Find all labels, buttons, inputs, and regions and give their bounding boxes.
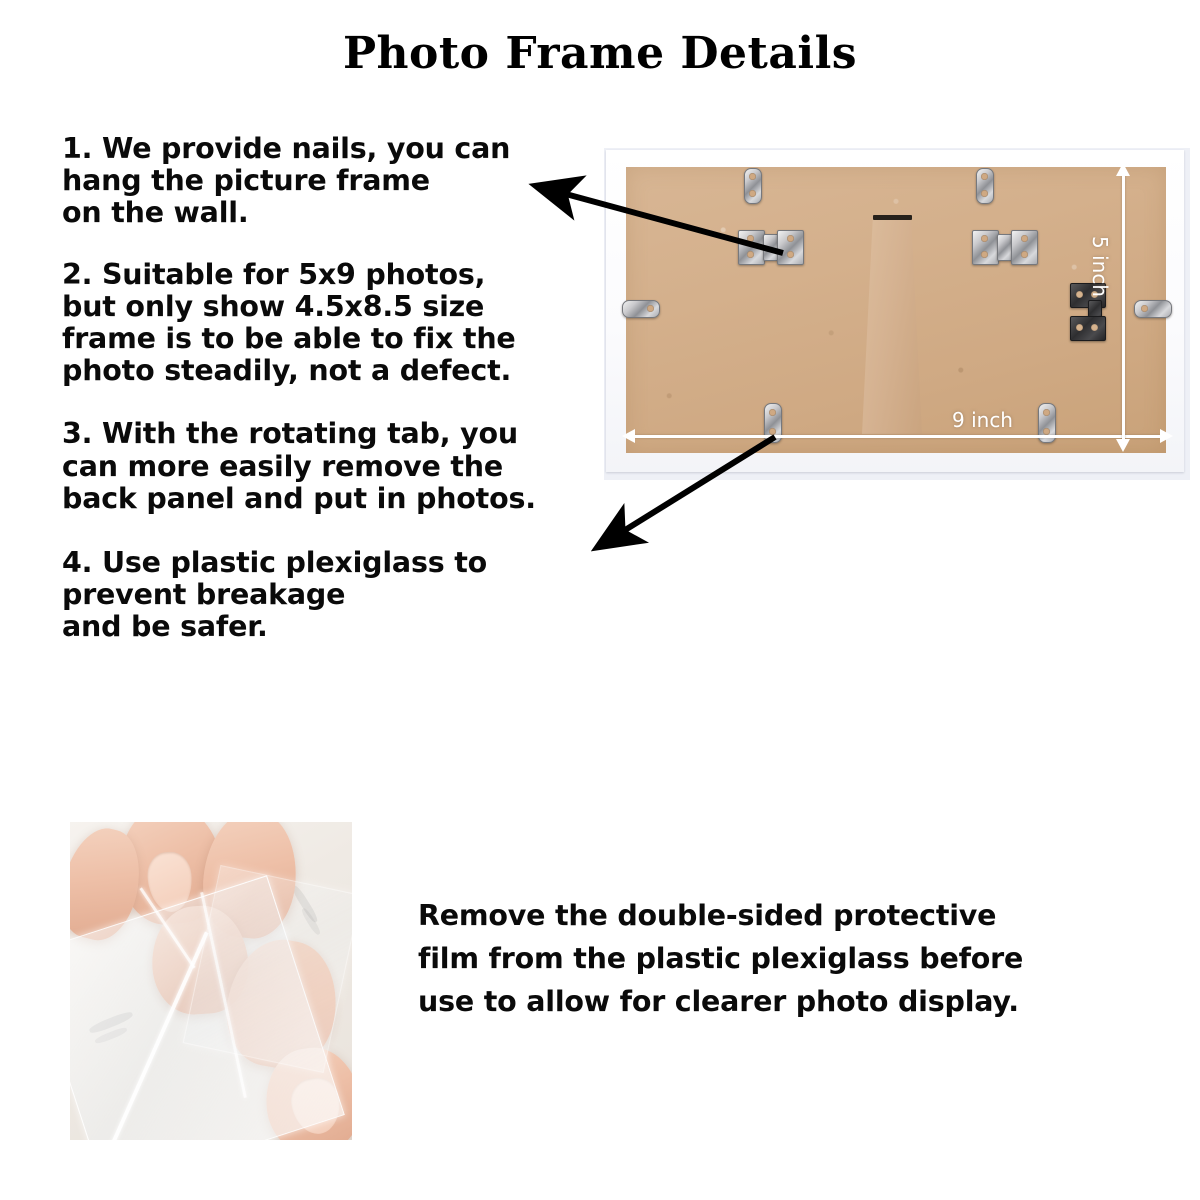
plexiglass-film-photo <box>70 822 352 1140</box>
instruction-item-4: 4. Use plastic plexiglass to prevent bre… <box>62 547 622 644</box>
dimension-label-height: 5 inch <box>1088 236 1112 297</box>
instruction-item-3: 3. With the rotating tab, you can more e… <box>62 418 622 515</box>
rotating-tab-right-pair-a <box>972 230 999 265</box>
dimension-arrow-height-top <box>1116 163 1130 176</box>
rotating-tab-dark-lower <box>1070 316 1106 341</box>
rotating-tab-top-right-small <box>976 168 994 204</box>
dimension-label-width: 9 inch <box>952 408 1013 432</box>
rotating-tab-left-edge <box>622 300 660 318</box>
dimension-line-height <box>1122 174 1125 442</box>
dimension-arrow-height-bottom <box>1116 439 1130 452</box>
page-title: Photo Frame Details <box>0 28 1200 79</box>
sawtooth-hanger-hardware-left <box>738 230 765 265</box>
instruction-item-1: 1. We provide nails, you can hang the pi… <box>62 133 622 230</box>
rotating-tab-top-left-small <box>744 168 762 204</box>
plexiglass-caption: Remove the double-sided protective film … <box>418 895 1148 1023</box>
instruction-item-2: 2. Suitable for 5x9 photos, but only sho… <box>62 259 622 388</box>
rotating-tab-right-pair-c <box>1011 230 1038 265</box>
sawtooth-hanger-hardware-left-c <box>777 230 804 265</box>
kickstand-slot <box>873 215 912 220</box>
instruction-list: 1. We provide nails, you can hang the pi… <box>62 133 622 644</box>
dimension-line-width <box>630 435 1166 438</box>
frame-back-photo: 9 inch 5 inch <box>604 148 1190 480</box>
dimension-arrow-width-left <box>622 429 635 443</box>
rotating-tab-right-edge <box>1134 300 1172 318</box>
dimension-arrow-width-right <box>1160 429 1173 443</box>
